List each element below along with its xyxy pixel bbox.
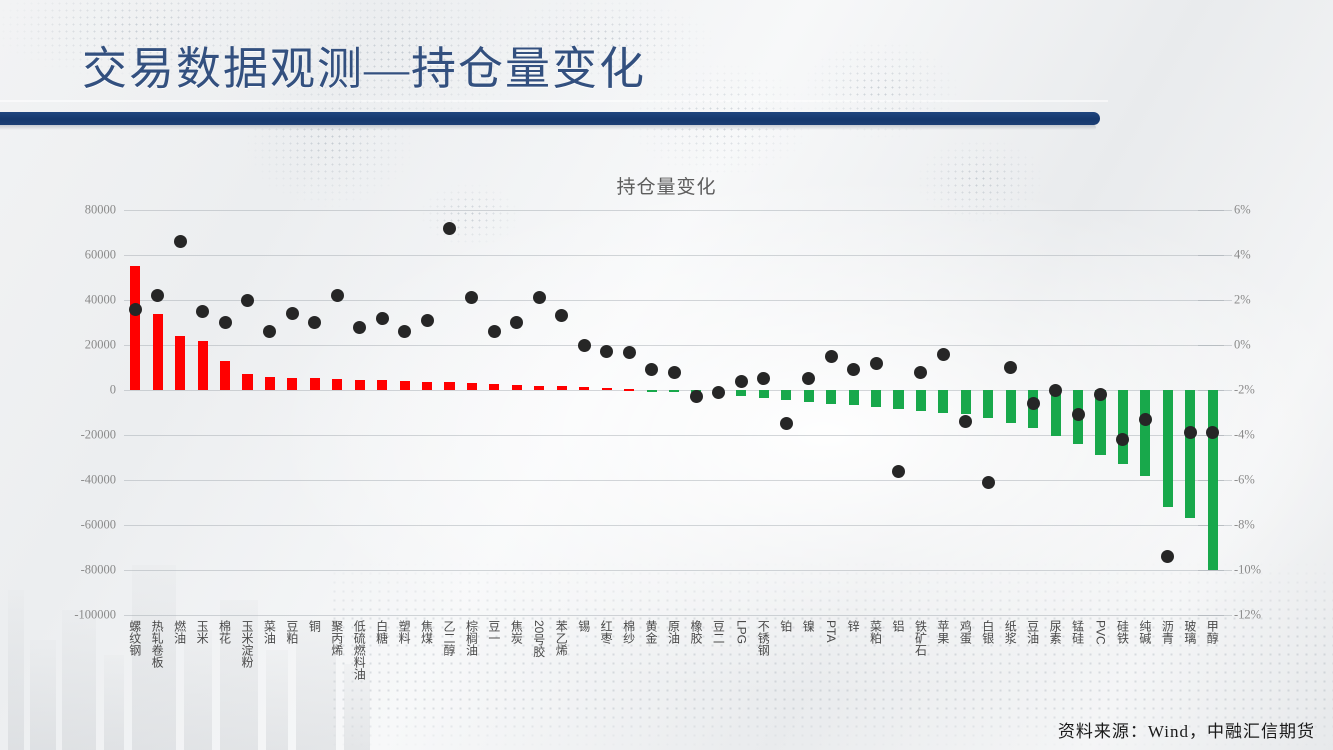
secondary-axis-tick-mark	[1198, 570, 1232, 571]
chart-bar	[198, 341, 208, 391]
chart-data-point	[690, 390, 703, 403]
x-axis-tick-label: 棕榈油	[463, 620, 480, 656]
x-axis-tick-label: 焦炭	[508, 620, 525, 644]
chart-bar	[983, 390, 993, 418]
chart-data-point	[959, 415, 972, 428]
chart-data-point	[353, 321, 366, 334]
x-axis-tick-label: 苯乙烯	[553, 620, 570, 656]
x-axis-tick-label: 锌	[845, 620, 862, 632]
y-axis-tick-label: -20000	[81, 428, 116, 443]
chart-bar	[1185, 390, 1195, 518]
x-axis-tick-label: 玉米	[194, 620, 211, 644]
secondary-y-axis-tick-label: 4%	[1234, 248, 1251, 263]
chart-data-point	[241, 294, 254, 307]
chart-x-axis-labels: 螺纹钢热轧卷板燃油玉米棉花玉米淀粉菜油豆粕铜聚丙烯低硫燃料油白糖塑料焦煤乙二醇棕…	[124, 620, 1224, 730]
chart-data-point	[735, 375, 748, 388]
chart-plot-area: 800006000040000200000-20000-40000-60000-…	[124, 210, 1224, 615]
chart-bar	[377, 380, 387, 390]
chart-data-point	[376, 312, 389, 325]
x-axis-tick-label: 不锈钢	[755, 620, 772, 656]
x-axis-tick-label: 纯碱	[1137, 620, 1154, 644]
chart-data-point	[1004, 361, 1017, 374]
x-axis-tick-label: 硅铁	[1114, 620, 1131, 644]
chart-data-point	[465, 291, 478, 304]
slide-canvas: 交易数据观测—持仓量变化 持仓量变化 800006000040000200000…	[0, 0, 1333, 750]
x-axis-tick-label: 铁矿石	[912, 620, 929, 656]
chart-data-point	[847, 363, 860, 376]
chart-bar	[781, 390, 791, 400]
chart-data-point	[780, 417, 793, 430]
chart-bar	[265, 377, 275, 391]
chart-bar	[1051, 390, 1061, 436]
y-axis-tick-label: 40000	[85, 293, 116, 308]
page-title: 交易数据观测—持仓量变化	[82, 32, 646, 97]
chart-data-point	[1072, 408, 1085, 421]
header-accent-bar	[0, 112, 1100, 125]
secondary-axis-tick-mark	[1198, 345, 1232, 346]
chart-bar	[130, 266, 140, 390]
chart-data-point	[129, 303, 142, 316]
chart-bar	[871, 390, 881, 407]
secondary-y-axis-tick-label: -12%	[1234, 608, 1261, 623]
header-accent-bar-shadow	[0, 125, 1096, 130]
x-axis-tick-label: 焦煤	[419, 620, 436, 644]
chart-bar	[512, 385, 522, 390]
x-axis-tick-label: 热轧卷板	[149, 620, 166, 668]
chart-gridline	[124, 210, 1224, 211]
x-axis-tick-label: 玉米淀粉	[239, 620, 256, 668]
chart-bar	[602, 388, 612, 390]
x-axis-tick-label: 菜油	[261, 620, 278, 644]
x-axis-tick-label: 铜	[306, 620, 323, 632]
x-axis-tick-label: 尿素	[1047, 620, 1064, 644]
y-axis-tick-label: 60000	[85, 248, 116, 263]
x-axis-tick-label: PTA	[824, 620, 838, 642]
y-axis-tick-label: -100000	[74, 608, 116, 623]
open-interest-change-chart: 持仓量变化 800006000040000200000-20000-40000-…	[0, 150, 1333, 710]
chart-data-point	[914, 366, 927, 379]
chart-bar	[220, 361, 230, 390]
chart-bar	[961, 390, 971, 414]
secondary-axis-tick-mark	[1198, 255, 1232, 256]
chart-bar	[1208, 390, 1218, 570]
chart-bar	[1118, 390, 1128, 464]
chart-data-point	[578, 339, 591, 352]
chart-data-point	[174, 235, 187, 248]
x-axis-tick-label: 橡胶	[688, 620, 705, 644]
chart-data-point	[712, 386, 725, 399]
x-axis-tick-label: 玻璃	[1182, 620, 1199, 644]
chart-data-point	[870, 357, 883, 370]
chart-data-point	[443, 222, 456, 235]
chart-data-point	[286, 307, 299, 320]
x-axis-tick-label: 螺纹钢	[127, 620, 144, 656]
x-axis-tick-label: 20号胶	[531, 620, 548, 657]
x-axis-tick-label: 鸡蛋	[957, 620, 974, 644]
chart-bar	[242, 374, 252, 390]
x-axis-tick-label: 原油	[666, 620, 683, 644]
chart-data-point	[398, 325, 411, 338]
chart-data-point	[982, 476, 995, 489]
chart-data-point	[1161, 550, 1174, 563]
chart-gridline	[124, 255, 1224, 256]
x-axis-tick-label: 铂	[778, 620, 795, 632]
x-axis-tick-label: LPG	[734, 620, 748, 644]
y-axis-tick-label: 20000	[85, 338, 116, 353]
chart-gridline	[124, 300, 1224, 301]
chart-data-point	[555, 309, 568, 322]
chart-data-point	[1049, 384, 1062, 397]
chart-bar	[916, 390, 926, 411]
chart-data-point	[1184, 426, 1197, 439]
x-axis-tick-label: 豆油	[1025, 620, 1042, 644]
chart-bar	[669, 390, 679, 392]
chart-bar	[759, 390, 769, 398]
chart-data-point	[263, 325, 276, 338]
chart-bar	[647, 390, 657, 392]
chart-bar	[422, 382, 432, 390]
secondary-y-axis-tick-label: 2%	[1234, 293, 1251, 308]
x-axis-tick-label: 燃油	[172, 620, 189, 644]
chart-data-point	[757, 372, 770, 385]
chart-data-point	[1139, 413, 1152, 426]
x-axis-tick-label: 豆一	[486, 620, 503, 644]
chart-bar	[489, 384, 499, 390]
y-axis-tick-label: 0	[110, 383, 116, 398]
secondary-y-axis-tick-label: -10%	[1234, 563, 1261, 578]
chart-bar	[1140, 390, 1150, 476]
x-axis-tick-label: 菜粕	[868, 620, 885, 644]
chart-data-point	[308, 316, 321, 329]
y-axis-tick-label: -40000	[81, 473, 116, 488]
chart-bar	[938, 390, 948, 413]
x-axis-tick-label: 红枣	[598, 620, 615, 644]
chart-bar	[804, 390, 814, 402]
x-axis-tick-label: 锡	[576, 620, 593, 632]
chart-data-point	[937, 348, 950, 361]
chart-title: 持仓量变化	[0, 172, 1333, 199]
chart-bar	[310, 378, 320, 390]
x-axis-tick-label: 锰硅	[1070, 620, 1087, 644]
chart-bar	[534, 386, 544, 391]
x-axis-tick-label: PVC	[1094, 620, 1108, 645]
chart-data-point	[1027, 397, 1040, 410]
secondary-y-axis-tick-label: -4%	[1234, 428, 1255, 443]
y-axis-tick-label: -60000	[81, 518, 116, 533]
x-axis-tick-label: 纸浆	[1002, 620, 1019, 644]
chart-data-point	[533, 291, 546, 304]
chart-bar	[400, 381, 410, 390]
x-axis-tick-label: 甲醇	[1204, 620, 1221, 644]
x-axis-tick-label: 镍	[800, 620, 817, 632]
chart-data-point	[219, 316, 232, 329]
x-axis-tick-label: 乙二醇	[441, 620, 458, 656]
chart-bar	[826, 390, 836, 404]
chart-data-point	[421, 314, 434, 327]
chart-gridline	[124, 615, 1224, 616]
secondary-y-axis-tick-label: -2%	[1234, 383, 1255, 398]
header-hairline	[0, 100, 1108, 102]
chart-bar	[1006, 390, 1016, 423]
chart-bar	[355, 380, 365, 390]
x-axis-tick-label: 苹果	[935, 620, 952, 644]
chart-data-point	[645, 363, 658, 376]
chart-bar	[579, 387, 589, 390]
chart-bar	[287, 378, 297, 390]
x-axis-tick-label: 铝	[890, 620, 907, 632]
y-axis-tick-label: -80000	[81, 563, 116, 578]
x-axis-tick-label: 白糖	[374, 620, 391, 644]
x-axis-tick-label: 棉纱	[621, 620, 638, 644]
y-axis-tick-label: 80000	[85, 203, 116, 218]
x-axis-tick-label: 塑料	[396, 620, 413, 644]
x-axis-tick-label: 豆二	[710, 620, 727, 644]
chart-bar	[736, 390, 746, 396]
secondary-axis-tick-mark	[1198, 210, 1232, 211]
chart-data-point	[802, 372, 815, 385]
x-axis-tick-label: 低硫燃料油	[351, 620, 368, 680]
secondary-axis-tick-mark	[1198, 615, 1232, 616]
chart-data-point	[600, 345, 613, 358]
x-axis-tick-label: 白银	[980, 620, 997, 644]
chart-data-point	[825, 350, 838, 363]
chart-gridline	[124, 570, 1224, 571]
chart-bar	[175, 336, 185, 390]
chart-bar	[467, 383, 477, 390]
chart-bar	[332, 379, 342, 390]
chart-data-point	[892, 465, 905, 478]
secondary-y-axis-tick-label: 6%	[1234, 203, 1251, 218]
chart-data-point	[488, 325, 501, 338]
chart-bar	[444, 382, 454, 390]
x-axis-tick-label: 沥青	[1159, 620, 1176, 644]
chart-data-point	[668, 366, 681, 379]
secondary-y-axis-tick-label: -6%	[1234, 473, 1255, 488]
chart-bar	[624, 389, 634, 391]
chart-data-point	[196, 305, 209, 318]
chart-bar	[893, 390, 903, 409]
chart-gridline	[124, 525, 1224, 526]
chart-data-point	[623, 346, 636, 359]
chart-bar	[557, 386, 567, 390]
chart-bar	[153, 314, 163, 391]
chart-data-point	[1094, 388, 1107, 401]
chart-bar	[849, 390, 859, 405]
source-note: 资料来源：Wind，中融汇信期货	[1058, 717, 1315, 742]
x-axis-tick-label: 豆粕	[284, 620, 301, 644]
chart-bar	[1163, 390, 1173, 507]
chart-gridline	[124, 480, 1224, 481]
chart-data-point	[331, 289, 344, 302]
x-axis-tick-label: 黄金	[643, 620, 660, 644]
secondary-axis-tick-mark	[1198, 300, 1232, 301]
chart-data-point	[510, 316, 523, 329]
secondary-y-axis-tick-label: -8%	[1234, 518, 1255, 533]
secondary-y-axis-tick-label: 0%	[1234, 338, 1251, 353]
chart-gridline	[124, 345, 1224, 346]
x-axis-tick-label: 聚丙烯	[329, 620, 346, 656]
x-axis-tick-label: 棉花	[217, 620, 234, 644]
